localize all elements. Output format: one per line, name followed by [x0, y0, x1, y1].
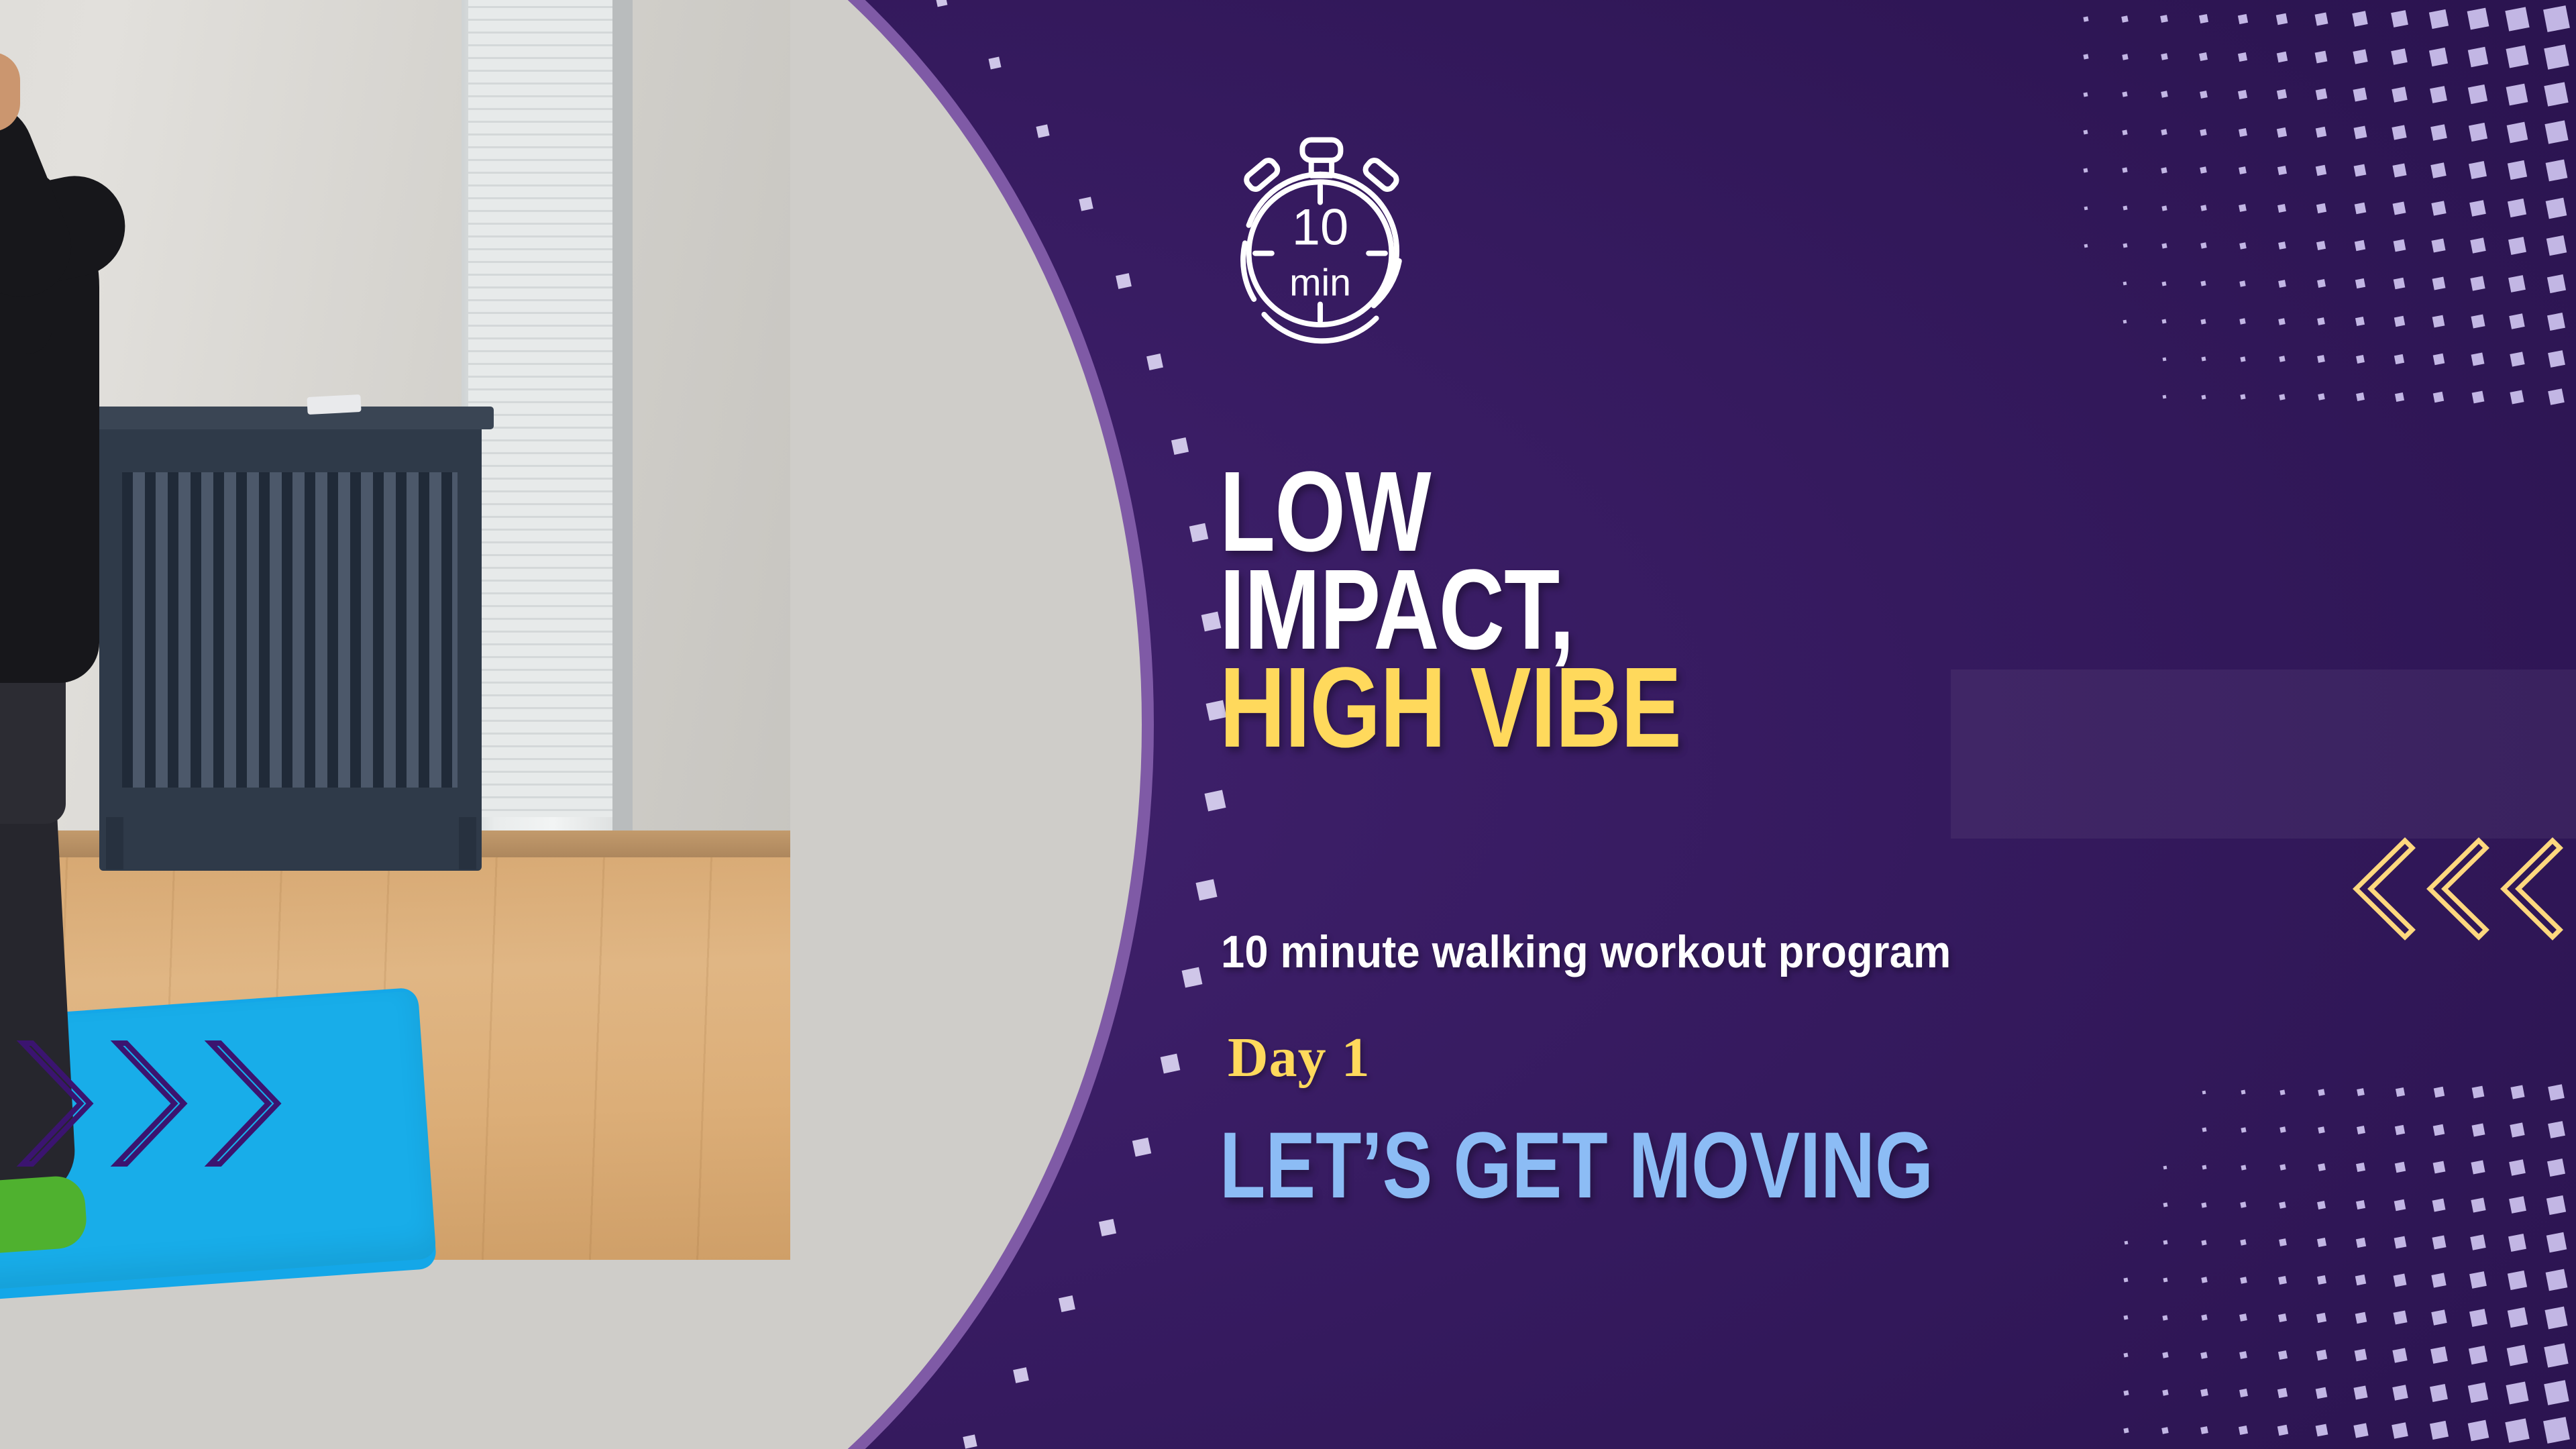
photo-cabinet-slats	[122, 472, 458, 788]
halftone-dot	[2509, 1196, 2526, 1214]
arc-dot	[963, 1434, 977, 1448]
halftone-dot	[2510, 352, 2524, 366]
svg-text:min: min	[1289, 261, 1351, 304]
tagline: LET’S GET MOVING	[1220, 1111, 1933, 1220]
halftone-dot	[2546, 235, 2567, 256]
halftone-dot	[2508, 1307, 2528, 1328]
halftone-dot	[2471, 314, 2485, 328]
halftone-dot	[2471, 353, 2485, 366]
halftone-dot	[2543, 5, 2570, 32]
halftone-dot	[2546, 1269, 2568, 1291]
halftone-dot	[2544, 82, 2568, 106]
halftone-dot	[2470, 276, 2485, 290]
halftone-dot	[2547, 313, 2565, 331]
halftone-dot	[2434, 1087, 2445, 1097]
arc-dot	[1171, 437, 1189, 455]
halftone-dot	[2509, 1159, 2526, 1176]
halftone-dot	[2472, 1086, 2485, 1099]
halftone-dot	[2508, 160, 2527, 180]
halftone-dot	[2468, 1420, 2489, 1442]
halftone-dot	[2510, 390, 2524, 404]
halftone-dot	[2508, 1234, 2526, 1252]
chevron-right-triple-icon	[8, 1036, 297, 1171]
arc-dot	[1146, 354, 1163, 370]
halftone-dot	[2508, 275, 2526, 292]
halftone-dot	[2548, 388, 2565, 405]
halftone-dot	[2548, 1121, 2565, 1138]
page-title: LOW IMPACT, HIGH VIBE	[1220, 463, 2132, 757]
halftone-dot	[2430, 124, 2447, 141]
stopwatch-icon: 10 min	[1193, 121, 1448, 379]
halftone-dot	[2505, 7, 2529, 31]
halftone-dot	[2546, 1232, 2567, 1252]
halftone-dot	[2431, 1309, 2447, 1325]
halftone-dot	[2431, 1273, 2446, 1287]
halftone-dot	[2544, 44, 2569, 70]
halftone-dot	[2430, 162, 2446, 178]
halftone-dot	[2544, 1380, 2569, 1405]
halftone-dot	[2432, 1235, 2446, 1249]
arc-dot	[1201, 612, 1222, 632]
halftone-dot	[2429, 9, 2449, 29]
halftone-dot	[2432, 277, 2446, 290]
halftone-dot	[2507, 1345, 2528, 1366]
halftone-dot	[2430, 1384, 2448, 1402]
arc-dot	[1099, 1219, 1116, 1236]
headline-line-3: HIGH VIBE	[1220, 659, 2132, 757]
halftone-dot	[2471, 1197, 2485, 1212]
halftone-dot	[2506, 45, 2528, 68]
svg-text:10: 10	[1292, 199, 1349, 256]
halftone-dot	[2544, 1306, 2567, 1329]
arc-dot	[1036, 124, 1049, 138]
halftone-dot	[2433, 1124, 2445, 1136]
thumbnail-canvas: 10 min LOW IMPACT, HIGH VIBE 10 minute w…	[0, 0, 2576, 1449]
day-label: Day 1	[1228, 1025, 1371, 1090]
halftone-dot	[2430, 1346, 2448, 1364]
halftone-dot	[2431, 238, 2445, 252]
halftone-dot	[2544, 120, 2568, 144]
subtitle: 10 minute walking workout program	[1221, 926, 1951, 978]
halftone-dot	[2546, 160, 2568, 182]
halftone-dot	[2543, 1417, 2570, 1444]
content-column: 10 min LOW IMPACT, HIGH VIBE 10 minute w…	[1220, 0, 2427, 1449]
halftone-dot	[2470, 1234, 2485, 1250]
halftone-dot	[2429, 48, 2448, 66]
halftone-dot	[2547, 1159, 2565, 1177]
photo-clip	[0, 0, 1142, 1449]
arc-dot	[1079, 197, 1093, 211]
halftone-dot	[2508, 237, 2526, 255]
arc-dot	[1182, 967, 1203, 988]
halftone-dot	[2544, 1343, 2568, 1367]
halftone-dot	[2469, 1309, 2487, 1327]
photo-phone-on-cabinet	[307, 394, 361, 415]
halftone-dot	[2505, 1418, 2529, 1442]
halftone-dot	[2430, 86, 2447, 103]
halftone-dot	[2432, 1199, 2446, 1212]
halftone-dot	[2510, 1122, 2524, 1137]
halftone-dot	[2469, 123, 2487, 142]
arc-dot	[1059, 1295, 1075, 1312]
photo-cabinet-leg	[106, 817, 123, 869]
halftone-dot	[2510, 1085, 2524, 1099]
halftone-dot	[2469, 1271, 2487, 1289]
photo-cabinet-top	[87, 407, 494, 429]
arc-dot	[1013, 1367, 1029, 1383]
halftone-dot	[2469, 200, 2486, 217]
halftone-dot	[2467, 8, 2489, 30]
halftone-dot	[2546, 1195, 2566, 1215]
arc-dot	[1116, 273, 1132, 289]
halftone-dot	[2471, 1160, 2485, 1174]
arc-dot	[1132, 1138, 1151, 1157]
halftone-dot	[2508, 1271, 2527, 1290]
arc-dot	[936, 0, 948, 7]
halftone-dot	[2506, 84, 2528, 106]
halftone-dot	[2468, 1383, 2488, 1403]
halftone-dot	[2509, 313, 2524, 329]
halftone-dot	[2430, 1421, 2449, 1440]
arc-dot	[1195, 879, 1217, 900]
halftone-dot	[2546, 198, 2567, 219]
halftone-dot	[2548, 350, 2565, 368]
halftone-dot	[2548, 1084, 2565, 1101]
halftone-dot	[2468, 47, 2488, 67]
photo-circle-ring	[0, 0, 1154, 1449]
halftone-dot	[2547, 274, 2566, 293]
halftone-dot	[2469, 161, 2487, 179]
halftone-dot	[2433, 392, 2444, 402]
photo-window-frame	[612, 0, 633, 857]
halftone-dot	[2433, 354, 2445, 366]
halftone-dot	[2431, 201, 2446, 215]
photo-cabinet-leg	[459, 817, 476, 869]
halftone-dot	[2472, 1124, 2485, 1137]
halftone-dot	[2469, 1346, 2487, 1364]
arc-dot	[1161, 1054, 1181, 1074]
arc-dot	[989, 57, 1002, 70]
halftone-dot	[2468, 85, 2487, 104]
halftone-dot	[2432, 315, 2445, 328]
halftone-dot	[2433, 1161, 2446, 1174]
halftone-dot	[2470, 237, 2485, 253]
halftone-dot	[2472, 391, 2485, 404]
halftone-dot	[2507, 122, 2528, 144]
halftone-dot	[2506, 1381, 2528, 1404]
arc-dot	[1189, 523, 1208, 542]
halftone-dot	[2508, 199, 2526, 217]
